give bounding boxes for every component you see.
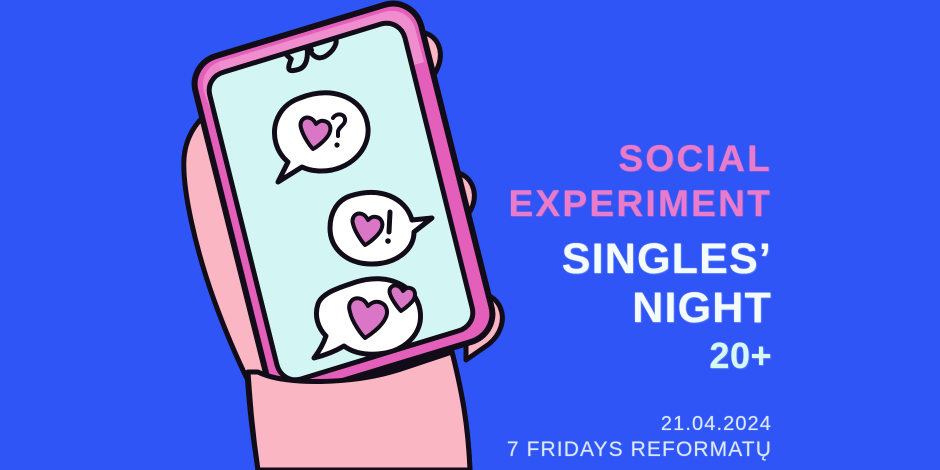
- headline-singles: SINGLES’: [352, 238, 772, 281]
- headline-block: SOCIAL EXPERIMENT SINGLES’ NIGHT 20+: [352, 140, 772, 374]
- headline-night: NIGHT: [352, 287, 772, 330]
- headline-age-limit: 20+: [352, 338, 772, 374]
- event-venue: 7 FRIDAYS REFORMATŲ: [312, 437, 772, 464]
- event-date: 21.04.2024: [312, 412, 772, 438]
- headline-experiment: EXPERIMENT: [352, 185, 772, 222]
- poster-canvas: SOCIAL EXPERIMENT SINGLES’ NIGHT 20+ 21.…: [0, 0, 940, 470]
- footer-block: 21.04.2024 7 FRIDAYS REFORMATŲ: [312, 412, 772, 464]
- headline-social: SOCIAL: [352, 140, 772, 177]
